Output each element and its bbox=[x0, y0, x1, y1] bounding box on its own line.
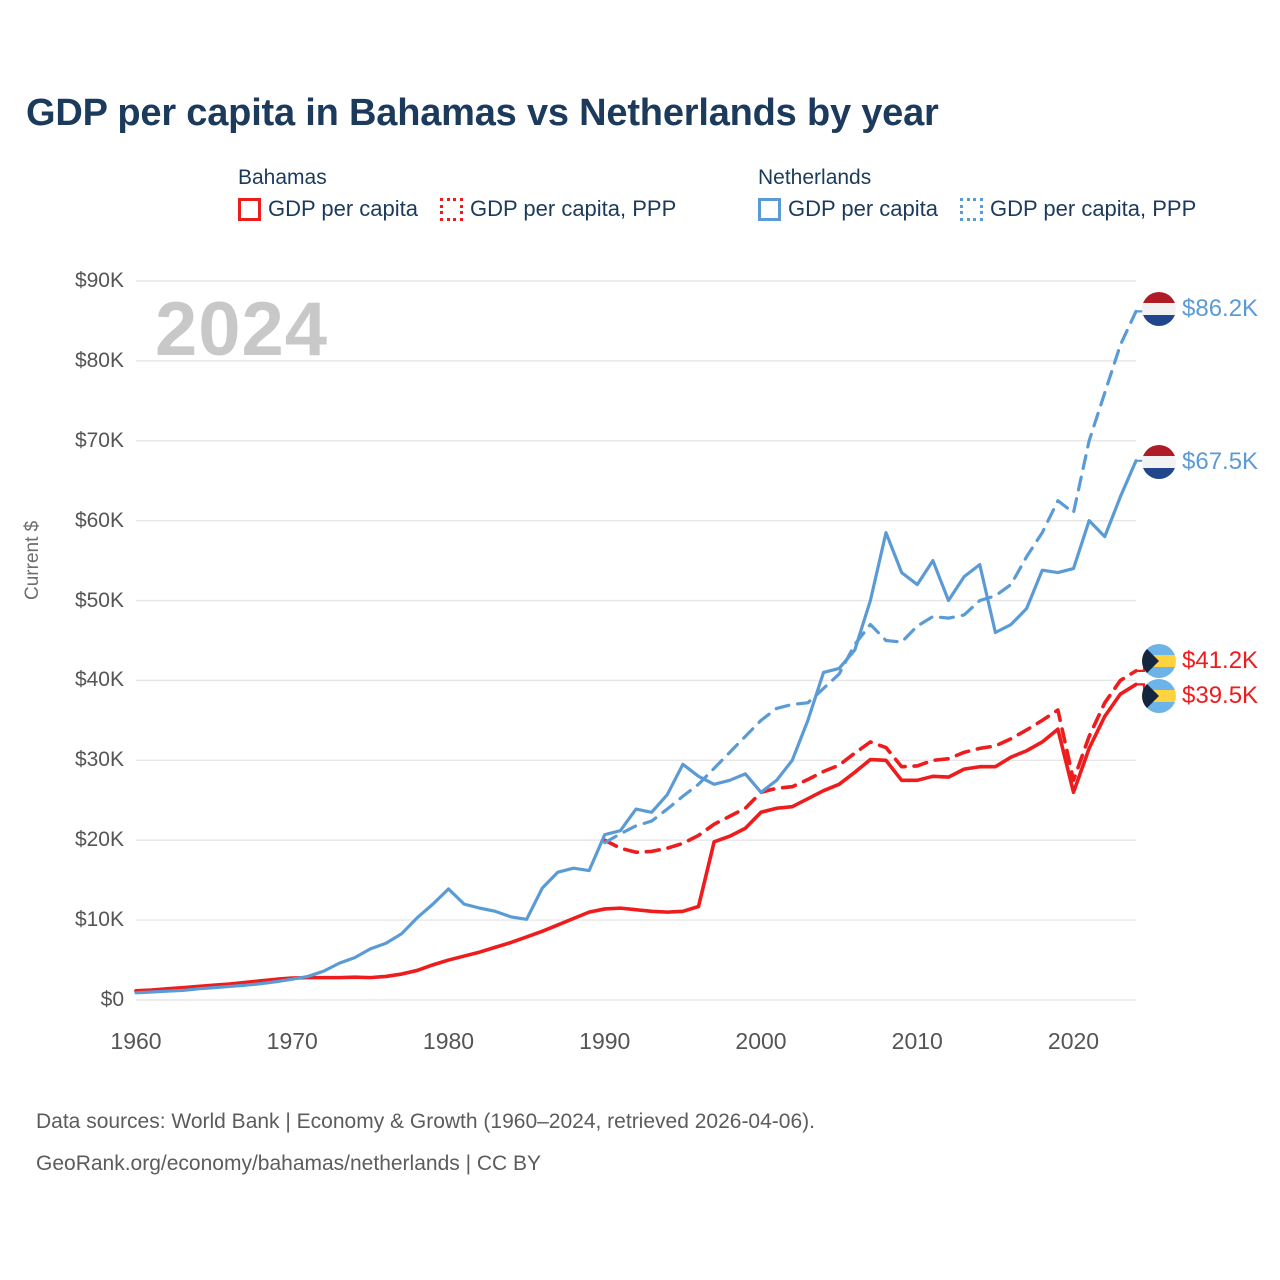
end-label-value: $39.5K bbox=[1182, 682, 1258, 710]
end-label-netherlands-gdp: $67.5K bbox=[1142, 445, 1258, 479]
netherlands-flag-icon bbox=[1142, 445, 1176, 479]
end-label-value: $41.2K bbox=[1182, 647, 1258, 675]
end-label-bahamas-ppp: $41.2K bbox=[1142, 644, 1258, 678]
end-label-value: $67.5K bbox=[1182, 448, 1258, 476]
netherlands-flag-icon bbox=[1142, 292, 1176, 326]
end-label-value: $86.2K bbox=[1182, 295, 1258, 323]
end-label-bahamas-gdp: $39.5K bbox=[1142, 679, 1258, 713]
series-line bbox=[605, 311, 1136, 842]
series-line bbox=[136, 461, 1136, 993]
chart-container: GDP per capita in Bahamas vs Netherlands… bbox=[0, 0, 1280, 1280]
end-label-netherlands-ppp: $86.2K bbox=[1142, 292, 1258, 326]
series-line bbox=[136, 684, 1136, 990]
plot-area bbox=[0, 0, 1280, 1280]
footer-data-sources: Data sources: World Bank | Economy & Gro… bbox=[36, 1110, 815, 1134]
bahamas-flag-icon bbox=[1142, 679, 1176, 713]
footer-attribution: GeoRank.org/economy/bahamas/netherlands … bbox=[36, 1152, 541, 1176]
bahamas-flag-icon bbox=[1142, 644, 1176, 678]
